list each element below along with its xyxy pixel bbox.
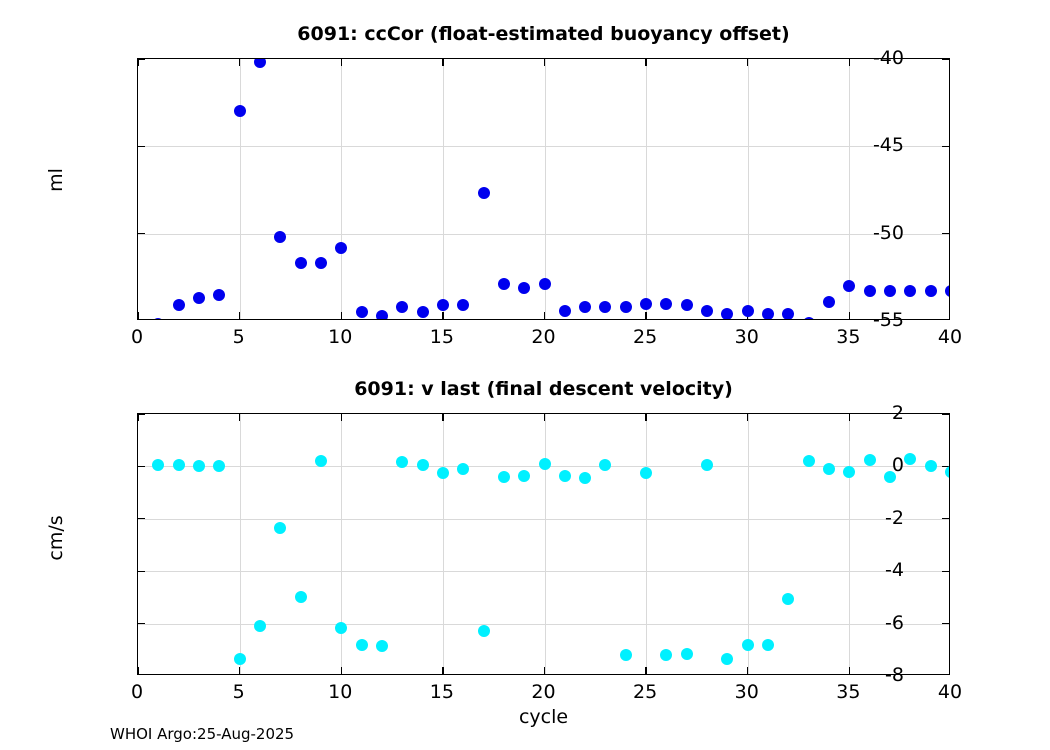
- plot-area-cccor: [137, 58, 950, 320]
- y-axis-tick: [942, 58, 949, 59]
- x-axis-tick: [544, 59, 545, 66]
- data-point: [457, 299, 469, 311]
- data-point: [254, 620, 266, 632]
- gridline-vertical: [646, 414, 647, 674]
- data-point: [579, 472, 591, 484]
- x-axis-tick: [137, 667, 138, 674]
- y-axis-tick: [942, 518, 949, 519]
- data-point: [518, 470, 530, 482]
- x-axis-tick-label: 0: [131, 681, 143, 703]
- x-axis-tick: [239, 59, 240, 66]
- data-point: [803, 455, 815, 467]
- y-axis-tick-label: -2: [885, 507, 904, 529]
- gridline-vertical: [443, 414, 444, 674]
- x-axis-tick-label: 0: [131, 326, 143, 348]
- data-point: [173, 459, 185, 471]
- data-point: [335, 622, 347, 634]
- x-axis-tick-label: 30: [735, 326, 759, 348]
- data-point: [904, 285, 916, 297]
- gridline-vertical: [341, 414, 342, 674]
- data-point: [498, 471, 510, 483]
- data-point: [315, 455, 327, 467]
- data-point: [681, 299, 693, 311]
- data-point: [295, 257, 307, 269]
- y-axis-tick-label: 0: [892, 454, 904, 476]
- data-point: [213, 460, 225, 472]
- x-axis-tick: [239, 312, 240, 319]
- y-axis-tick-label: -50: [873, 222, 904, 244]
- x-axis-tick: [544, 312, 545, 319]
- data-point: [782, 593, 794, 605]
- data-point: [478, 187, 490, 199]
- gridline-vertical: [341, 59, 342, 319]
- data-point: [599, 459, 611, 471]
- data-point: [945, 285, 950, 297]
- data-point: [579, 301, 591, 313]
- gridline-horizontal: [138, 571, 949, 572]
- data-point: [417, 306, 429, 318]
- data-point: [823, 463, 835, 475]
- data-point: [660, 649, 672, 661]
- y-axis-tick-label: 2: [892, 402, 904, 424]
- data-point: [356, 639, 368, 651]
- gridline-horizontal: [138, 519, 949, 520]
- x-axis-tick: [544, 414, 545, 421]
- x-axis-tick: [645, 59, 646, 66]
- gridline-vertical: [443, 59, 444, 319]
- x-axis-tick: [645, 667, 646, 674]
- y-axis-tick-label: -8: [885, 664, 904, 686]
- x-axis-tick: [442, 414, 443, 421]
- y-axis-tick: [942, 571, 949, 572]
- x-axis-tick: [239, 414, 240, 421]
- y-axis-tick-label: -45: [873, 134, 904, 156]
- y-axis-tick: [942, 146, 949, 147]
- data-point: [782, 308, 794, 320]
- gridline-horizontal: [138, 146, 949, 147]
- data-point: [295, 591, 307, 603]
- chart-title-vlast: 6091: v last (final descent velocity): [137, 378, 950, 400]
- data-point: [376, 640, 388, 652]
- y-axis-tick-label: -40: [873, 47, 904, 69]
- x-axis-tick: [747, 667, 748, 674]
- data-point: [234, 105, 246, 117]
- data-point: [173, 299, 185, 311]
- x-axis-tick-label: 10: [328, 681, 352, 703]
- gridline-vertical: [646, 59, 647, 319]
- gridline-horizontal: [138, 234, 949, 235]
- data-point: [925, 285, 937, 297]
- y-axis-tick-label: -6: [885, 612, 904, 634]
- x-axis-tick: [645, 414, 646, 421]
- x-axis-tick: [645, 312, 646, 319]
- data-point: [721, 653, 733, 665]
- footer-credit: WHOI Argo:25-Aug-2025: [110, 725, 294, 743]
- data-point: [254, 58, 266, 68]
- data-point: [539, 458, 551, 470]
- y-axis-tick: [138, 466, 145, 467]
- data-point: [945, 466, 950, 478]
- x-axis-tick-label: 35: [836, 326, 860, 348]
- data-point: [843, 466, 855, 478]
- y-axis-tick: [138, 146, 145, 147]
- y-axis-label-vlast: cm/s: [45, 515, 67, 560]
- x-axis-tick-label: 35: [836, 681, 860, 703]
- x-axis-tick: [849, 414, 850, 421]
- data-point: [843, 280, 855, 292]
- data-point: [660, 298, 672, 310]
- data-point: [234, 653, 246, 665]
- data-point: [315, 257, 327, 269]
- gridline-vertical: [240, 414, 241, 674]
- x-axis-tick-label: 15: [430, 681, 454, 703]
- data-point: [864, 454, 876, 466]
- data-point: [274, 231, 286, 243]
- data-point: [213, 289, 225, 301]
- data-point: [742, 305, 754, 317]
- x-axis-tick: [442, 59, 443, 66]
- data-point: [701, 459, 713, 471]
- plot-area-vlast: [137, 413, 950, 675]
- data-point: [681, 648, 693, 660]
- gridline-vertical: [748, 414, 749, 674]
- x-axis-tick: [747, 59, 748, 66]
- y-axis-tick: [138, 571, 145, 572]
- x-axis-tick: [341, 59, 342, 66]
- data-point: [823, 296, 835, 308]
- x-axis-tick-label: 15: [430, 326, 454, 348]
- data-point: [396, 301, 408, 313]
- x-axis-tick: [341, 414, 342, 421]
- data-point: [193, 292, 205, 304]
- data-point: [335, 242, 347, 254]
- data-point: [925, 460, 937, 472]
- y-axis-tick: [942, 233, 949, 234]
- data-point: [762, 639, 774, 651]
- x-axis-tick: [239, 667, 240, 674]
- y-axis-tick-label: -55: [873, 309, 904, 331]
- data-point: [478, 625, 490, 637]
- data-point: [620, 649, 632, 661]
- y-axis-tick: [138, 623, 145, 624]
- y-axis-tick: [942, 623, 949, 624]
- chart-panel-cccor[interactable]: [137, 58, 950, 320]
- x-axis-tick: [137, 414, 138, 421]
- data-point: [904, 453, 916, 465]
- x-axis-tick: [341, 667, 342, 674]
- data-point: [864, 285, 876, 297]
- y-axis-tick: [138, 58, 145, 59]
- data-point: [559, 470, 571, 482]
- x-axis-tick-label: 40: [938, 681, 962, 703]
- gridline-vertical: [545, 414, 546, 674]
- data-point: [437, 299, 449, 311]
- data-point: [396, 456, 408, 468]
- data-point: [803, 317, 815, 320]
- y-axis-tick: [138, 413, 145, 414]
- data-point: [884, 285, 896, 297]
- data-point: [376, 310, 388, 320]
- gridline-vertical: [748, 59, 749, 319]
- x-axis-tick: [341, 312, 342, 319]
- x-axis-tick: [849, 312, 850, 319]
- x-axis-tick-label: 30: [735, 681, 759, 703]
- data-point: [539, 278, 551, 290]
- data-point: [742, 639, 754, 651]
- data-point: [721, 308, 733, 320]
- x-axis-tick: [137, 59, 138, 66]
- x-axis-tick-label: 25: [633, 681, 657, 703]
- x-axis-tick: [544, 667, 545, 674]
- data-point: [701, 305, 713, 317]
- x-axis-tick-label: 20: [531, 326, 555, 348]
- chart-title-cccor: 6091: ccCor (float-estimated buoyancy of…: [137, 23, 950, 45]
- data-point: [640, 467, 652, 479]
- data-point: [620, 301, 632, 313]
- data-point: [437, 467, 449, 479]
- x-axis-tick: [849, 59, 850, 66]
- x-axis-tick-label: 25: [633, 326, 657, 348]
- y-axis-label-cccor: ml: [45, 168, 67, 192]
- data-point: [152, 318, 164, 320]
- y-axis-tick: [138, 233, 145, 234]
- data-point: [152, 459, 164, 471]
- x-axis-tick: [442, 667, 443, 674]
- data-point: [559, 305, 571, 317]
- data-point: [640, 298, 652, 310]
- x-axis-tick-label: 20: [531, 681, 555, 703]
- x-axis-tick: [849, 667, 850, 674]
- gridline-vertical: [240, 59, 241, 319]
- x-axis-tick: [442, 312, 443, 319]
- data-point: [518, 282, 530, 294]
- x-axis-tick-label: 5: [233, 681, 245, 703]
- data-point: [498, 278, 510, 290]
- data-point: [599, 301, 611, 313]
- data-point: [457, 463, 469, 475]
- x-axis-tick-label: 5: [233, 326, 245, 348]
- chart-panel-vlast[interactable]: [137, 413, 950, 675]
- data-point: [417, 459, 429, 471]
- data-point: [274, 522, 286, 534]
- gridline-vertical: [849, 414, 850, 674]
- x-axis-tick: [747, 414, 748, 421]
- x-axis-tick: [137, 312, 138, 319]
- y-axis-tick: [138, 518, 145, 519]
- y-axis-tick-label: -4: [885, 559, 904, 581]
- x-axis-tick-label: 10: [328, 326, 352, 348]
- data-point: [193, 460, 205, 472]
- y-axis-tick: [942, 413, 949, 414]
- data-point: [356, 306, 368, 318]
- x-axis-tick-label: 40: [938, 326, 962, 348]
- figure-canvas: 6091: ccCor (float-estimated buoyancy of…: [0, 0, 1050, 750]
- data-point: [762, 308, 774, 320]
